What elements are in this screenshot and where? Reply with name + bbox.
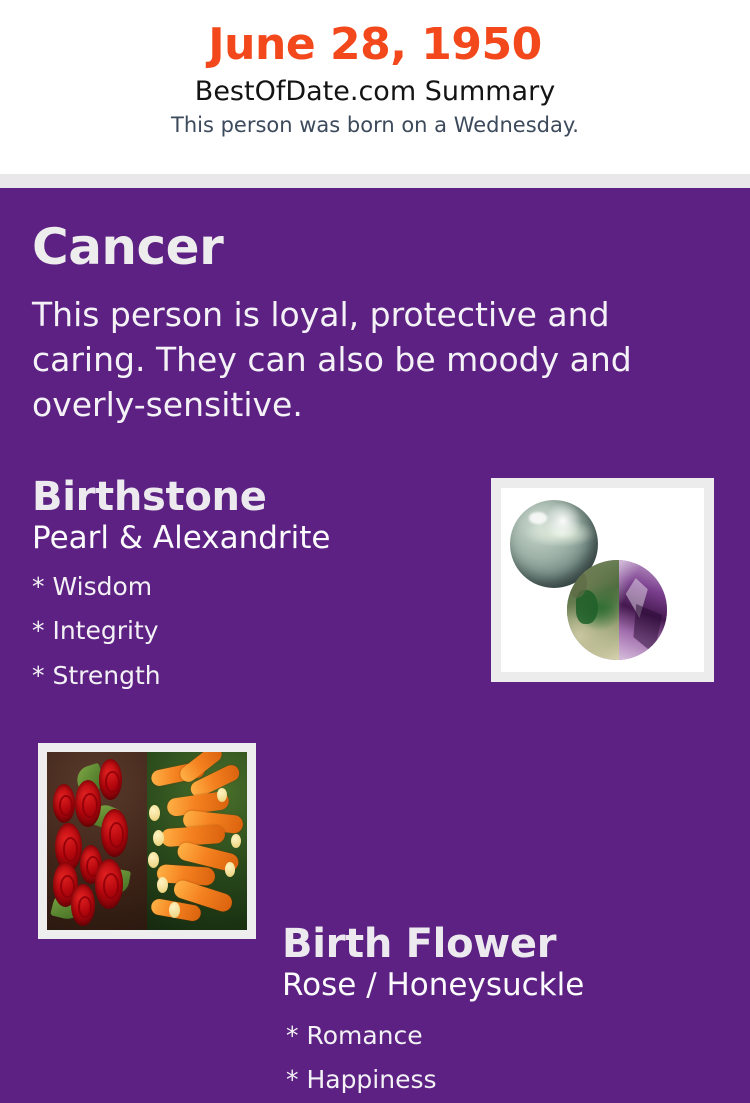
rose-shape	[71, 884, 95, 927]
list-item: * Integrity	[32, 609, 462, 654]
list-item: * Happiness	[286, 1058, 722, 1103]
birthflower-image	[47, 752, 247, 930]
birthstone-subtitle: Pearl & Alexandrite	[32, 518, 462, 556]
birthflower-subtitle: Rose / Honeysuckle	[282, 965, 722, 1003]
flower-tip-shape	[157, 877, 168, 893]
roses-photo-half	[47, 752, 147, 930]
birthstone-title: Birthstone	[32, 476, 462, 518]
flower-tip-shape	[225, 862, 235, 876]
rose-shape	[99, 759, 122, 800]
rose-shape	[101, 809, 128, 857]
zodiac-sign-title: Cancer	[32, 222, 223, 272]
site-name: BestOfDate.com Summary	[0, 68, 750, 107]
birthstone-image	[501, 488, 704, 672]
page-title-date: June 28, 1950	[0, 0, 750, 68]
honeysuckle-photo-half	[147, 752, 247, 930]
weekday-statement: This person was born on a Wednesday.	[0, 107, 750, 137]
flower-tip-shape	[169, 902, 180, 918]
birthflower-trait-list: * Romance * Happiness	[282, 1003, 722, 1103]
alexandrite-faceted-half	[619, 560, 667, 660]
flower-tip-shape	[149, 805, 160, 821]
header-divider	[0, 174, 750, 188]
rose-shape	[53, 784, 75, 823]
header: June 28, 1950 BestOfDate.com Summary Thi…	[0, 0, 750, 174]
alexandrite-rough-half	[567, 560, 619, 660]
flower-tip-shape	[231, 834, 241, 848]
flower-tip-shape	[148, 852, 159, 868]
birthstone-trait-list: * Wisdom * Integrity * Strength	[32, 556, 462, 699]
birthflower-title: Birth Flower	[282, 923, 722, 965]
list-item: * Strength	[32, 654, 462, 699]
zodiac-description: This person is loyal, protective and car…	[32, 292, 652, 428]
birthstone-image-frame	[491, 478, 714, 682]
alexandrite-icon	[567, 560, 667, 660]
birthflower-image-frame	[38, 743, 256, 939]
rose-shape	[95, 859, 123, 909]
flower-tip-shape	[153, 830, 164, 846]
list-item: * Romance	[286, 1014, 722, 1059]
flower-tip-shape	[217, 788, 227, 802]
birthflower-section: Birth Flower Rose / Honeysuckle * Romanc…	[282, 923, 722, 1103]
rose-shape	[75, 780, 101, 826]
list-item: * Wisdom	[32, 565, 462, 610]
birthstone-section: Birthstone Pearl & Alexandrite * Wisdom …	[32, 476, 462, 698]
summary-card: June 28, 1950 BestOfDate.com Summary Thi…	[0, 0, 750, 1000]
